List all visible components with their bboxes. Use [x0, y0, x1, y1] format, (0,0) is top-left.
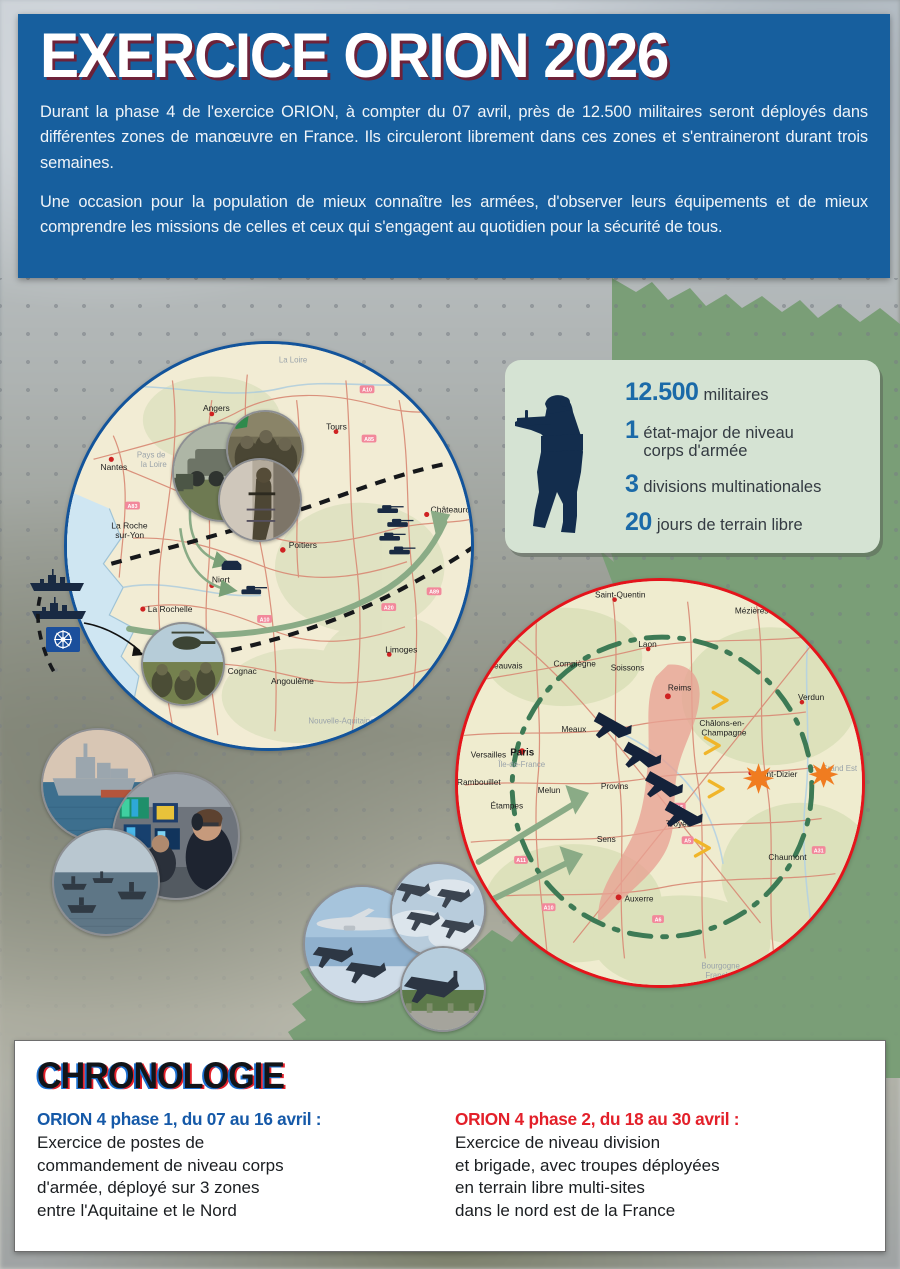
soldier-training-photo[interactable] [218, 458, 302, 542]
svg-text:A10: A10 [362, 388, 372, 394]
stat-label: divisions multinationales [643, 479, 821, 497]
svg-text:A11: A11 [516, 858, 526, 864]
stat-row: 20 jours de terrain libre [625, 508, 870, 537]
svg-text:A6: A6 [655, 917, 662, 923]
svg-text:Chaumont: Chaumont [768, 853, 807, 862]
svg-text:Compiègne: Compiègne [554, 660, 597, 669]
stat-row: 1 état-major de niveau corps d'armée [625, 416, 870, 461]
svg-text:Rambouillet: Rambouillet [457, 778, 501, 787]
rafale-formation-photo[interactable] [390, 862, 486, 958]
svg-text:Poitiers: Poitiers [289, 540, 317, 550]
svg-text:Bourgogne: Bourgogne [701, 961, 740, 970]
svg-text:Melun: Melun [538, 786, 561, 795]
svg-text:Soissons: Soissons [611, 664, 645, 673]
chronologie-column-phase-2: ORION 4 phase 2, du 18 au 30 avril : Exe… [455, 1109, 855, 1222]
key-figures-list: 12.500 militaires 1 état-major de niveau… [625, 378, 870, 546]
svg-text:A10: A10 [260, 617, 270, 623]
svg-text:Verdun: Verdun [798, 693, 825, 702]
svg-text:Châlons-en-: Châlons-en- [699, 719, 744, 728]
svg-text:Beauvais: Beauvais [489, 662, 523, 671]
svg-text:Reims: Reims [668, 683, 691, 692]
page-title: EXERCICE ORION 2026 [40, 26, 810, 88]
svg-text:Limoges: Limoges [385, 644, 417, 654]
svg-text:la Loire: la Loire [141, 460, 167, 469]
svg-text:Pays de: Pays de [137, 450, 166, 459]
key-figures-panel: 12.500 militaires 1 état-major de niveau… [505, 360, 880, 553]
svg-text:Versailles: Versailles [471, 750, 506, 759]
intro-paragraph-1: Durant la phase 4 de l'exercice ORION, à… [40, 100, 868, 177]
svg-text:Île-de-France: Île-de-France [497, 760, 545, 769]
stat-row: 3 divisions multinationales [625, 470, 870, 499]
svg-text:Angoulême: Angoulême [271, 676, 314, 686]
stat-row: 12.500 militaires [625, 378, 870, 407]
stat-label: militaires [703, 387, 768, 405]
svg-text:Étampes: Étampes [490, 801, 523, 811]
svg-text:La Loire: La Loire [279, 356, 308, 365]
map-left-canvas: A83 A10 A85 A10 A20 A89 Pays dela Loire … [64, 341, 474, 751]
nato-flag-icon [46, 627, 80, 652]
svg-text:Nouvelle-Aquitaine: Nouvelle-Aquitaine [308, 716, 375, 725]
svg-text:Paris: Paris [510, 747, 535, 758]
map-southwest-france[interactable]: A83 A10 A85 A10 A20 A89 Pays dela Loire … [64, 341, 474, 751]
svg-text:Saint-Quentin: Saint-Quentin [595, 591, 646, 600]
svg-text:Angers: Angers [203, 403, 230, 413]
svg-text:A31: A31 [814, 848, 824, 854]
chronologie-columns: ORION 4 phase 1, du 07 au 16 avril : Exe… [37, 1109, 863, 1222]
svg-text:La Roche: La Roche [111, 520, 148, 530]
header-banner: EXERCICE ORION 2026 Durant la phase 4 de… [18, 14, 890, 278]
stat-number: 20 [625, 508, 652, 537]
warship-icon [30, 569, 84, 591]
chronologie-column-phase-1: ORION 4 phase 1, du 07 au 16 avril : Exe… [37, 1109, 437, 1222]
naval-fleet-photo[interactable] [52, 828, 160, 936]
phase-2-body: Exercice de niveau division et brigade, … [455, 1132, 855, 1222]
svg-text:A83: A83 [128, 504, 138, 510]
svg-text:Provins: Provins [601, 782, 629, 791]
svg-text:Niort: Niort [212, 574, 231, 584]
helicopter-troops-photo[interactable] [141, 622, 225, 706]
svg-text:A26: A26 [461, 602, 471, 608]
chronologie-heading: CHRONOLOGIE [37, 1055, 797, 1097]
svg-text:sur-Yon: sur-Yon [115, 530, 144, 540]
svg-text:Meaux: Meaux [561, 725, 587, 734]
svg-text:Cognac: Cognac [228, 666, 258, 676]
phase-1-body: Exercice de postes de commandement de ni… [37, 1132, 437, 1222]
intro-paragraph-2: Une occasion pour la population de mieux… [40, 190, 868, 241]
svg-text:A20: A20 [384, 605, 394, 611]
svg-text:Franche-Comté: Franche-Comté [705, 971, 760, 980]
svg-text:Nantes: Nantes [100, 462, 127, 472]
svg-text:A85: A85 [364, 437, 374, 443]
svg-text:Laon: Laon [638, 640, 657, 649]
soldier-silhouette-icon [511, 380, 623, 542]
stat-label: jours de terrain libre [657, 517, 803, 535]
svg-text:Auxerre: Auxerre [625, 894, 654, 903]
svg-text:A89: A89 [429, 590, 439, 596]
stat-number: 3 [625, 470, 638, 499]
svg-text:A10: A10 [544, 906, 554, 912]
stat-number: 12.500 [625, 378, 698, 407]
map-right-canvas: A11 A10 A5 A5 A6 A31 A26 Grand Est Bourg… [455, 578, 865, 988]
chronologie-panel: CHRONOLOGIE ORION 4 phase 1, du 07 au 16… [14, 1040, 886, 1252]
phase-1-title: ORION 4 phase 1, du 07 au 16 avril : [37, 1109, 437, 1130]
svg-text:A5: A5 [684, 839, 691, 845]
map-northeast-france[interactable]: A11 A10 A5 A5 A6 A31 A26 Grand Est Bourg… [455, 578, 865, 988]
svg-text:Mézières: Mézières [735, 606, 769, 615]
svg-text:Champagne: Champagne [701, 729, 746, 738]
svg-text:Sens: Sens [597, 835, 616, 844]
stat-label: état-major de niveau corps d'armée [643, 425, 793, 461]
svg-text:Tours: Tours [326, 422, 347, 432]
rafale-takeoff-photo[interactable] [400, 946, 486, 1032]
infographic-poster: EXERCICE ORION 2026 Durant la phase 4 de… [0, 0, 900, 1269]
phase-2-title: ORION 4 phase 2, du 18 au 30 avril : [455, 1109, 855, 1130]
stat-number: 1 [625, 416, 638, 445]
